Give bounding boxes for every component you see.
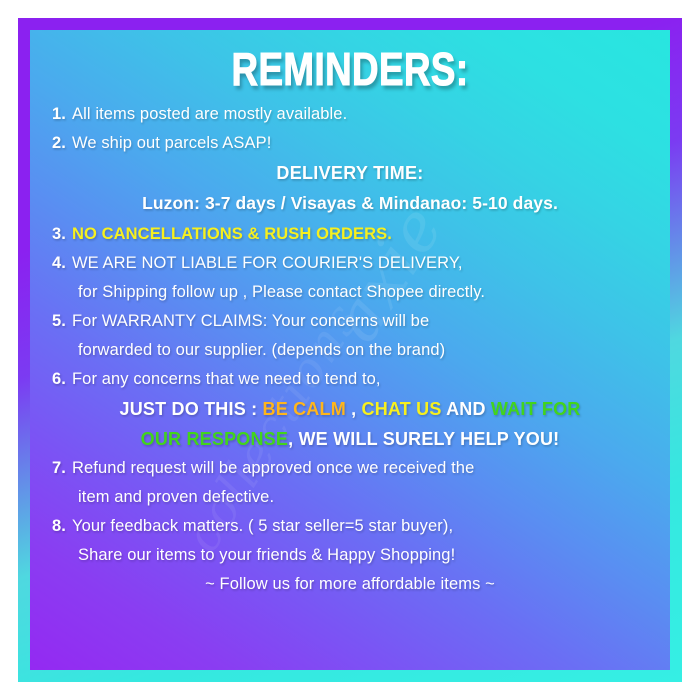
panel-content: REMINDERS: 1.All items posted are mostly… — [44, 46, 656, 592]
list-item-7-text: Refund request will be approved once we … — [72, 459, 474, 477]
page-title: REMINDERS: — [105, 46, 595, 92]
list-item-8-text: Your feedback matters. ( 5 star seller=5… — [72, 517, 453, 535]
cta-our-response: OUR RESPONSE — [141, 429, 288, 449]
list-item-2: 2.We ship out parcels ASAP! — [44, 135, 656, 152]
list-item-4-line2: for Shipping follow up , Please contact … — [44, 284, 656, 301]
list-item-2-text: We ship out parcels ASAP! — [72, 134, 271, 152]
cta-wait-for: WAIT FOR — [491, 399, 581, 419]
list-item-4-number: 4. — [44, 255, 66, 272]
list-item-7: 7.Refund request will be approved once w… — [44, 460, 656, 477]
list-item-3: 3.NO CANCELLATIONS & RUSH ORDERS. — [44, 226, 656, 243]
cta-chat-us: CHAT US — [362, 399, 442, 419]
follow-us-footer: ~ Follow us for more affordable items ~ — [44, 576, 656, 593]
list-item-1-text: All items posted are mostly available. — [72, 105, 347, 123]
call-to-action-line-2: OUR RESPONSE, WE WILL SURELY HELP YOU! — [44, 430, 656, 448]
list-item-1: 1.All items posted are mostly available. — [44, 106, 656, 123]
poster-page: axie collections REMINDERS: 1.All items … — [0, 0, 700, 700]
delivery-time-detail: Luzon: 3-7 days / Visayas & Mindanao: 5-… — [44, 195, 656, 213]
cta-part4: , WE WILL SURELY HELP YOU! — [288, 429, 559, 449]
list-item-5: 5.For WARRANTY CLAIMS: Your concerns wil… — [44, 313, 656, 330]
list-item-5-number: 5. — [44, 313, 66, 330]
list-item-6-text: For any concerns that we need to tend to… — [72, 370, 381, 388]
cta-part2: , — [346, 399, 362, 419]
list-item-1-number: 1. — [44, 106, 66, 123]
list-item-6-number: 6. — [44, 371, 66, 388]
list-item-7-number: 7. — [44, 460, 66, 477]
list-item-2-number: 2. — [44, 135, 66, 152]
list-item-7-line2: item and proven defective. — [44, 489, 656, 506]
list-item-6: 6.For any concerns that we need to tend … — [44, 371, 656, 388]
list-item-3-text: NO CANCELLATIONS & RUSH ORDERS. — [72, 225, 392, 243]
list-item-5-text: For WARRANTY CLAIMS: Your concerns will … — [72, 312, 429, 330]
cta-part1: JUST DO THIS : — [119, 399, 262, 419]
list-item-3-number: 3. — [44, 226, 66, 243]
list-item-4: 4.WE ARE NOT LIABLE FOR COURIER'S DELIVE… — [44, 255, 656, 272]
delivery-time-heading: DELIVERY TIME: — [44, 164, 656, 182]
list-item-8: 8.Your feedback matters. ( 5 star seller… — [44, 518, 656, 535]
gradient-border-frame: axie collections REMINDERS: 1.All items … — [18, 18, 682, 682]
reminders-panel: axie collections REMINDERS: 1.All items … — [30, 30, 670, 670]
list-item-8-line2: Share our items to your friends & Happy … — [44, 547, 656, 564]
list-item-5-line2: forwarded to our supplier. (depends on t… — [44, 342, 656, 359]
call-to-action-line-1: JUST DO THIS : BE CALM , CHAT US AND WAI… — [44, 400, 656, 418]
cta-part3: AND — [442, 399, 491, 419]
list-item-4-text: WE ARE NOT LIABLE FOR COURIER'S DELIVERY… — [72, 254, 463, 272]
cta-be-calm: BE CALM — [263, 399, 346, 419]
list-item-8-number: 8. — [44, 518, 66, 535]
